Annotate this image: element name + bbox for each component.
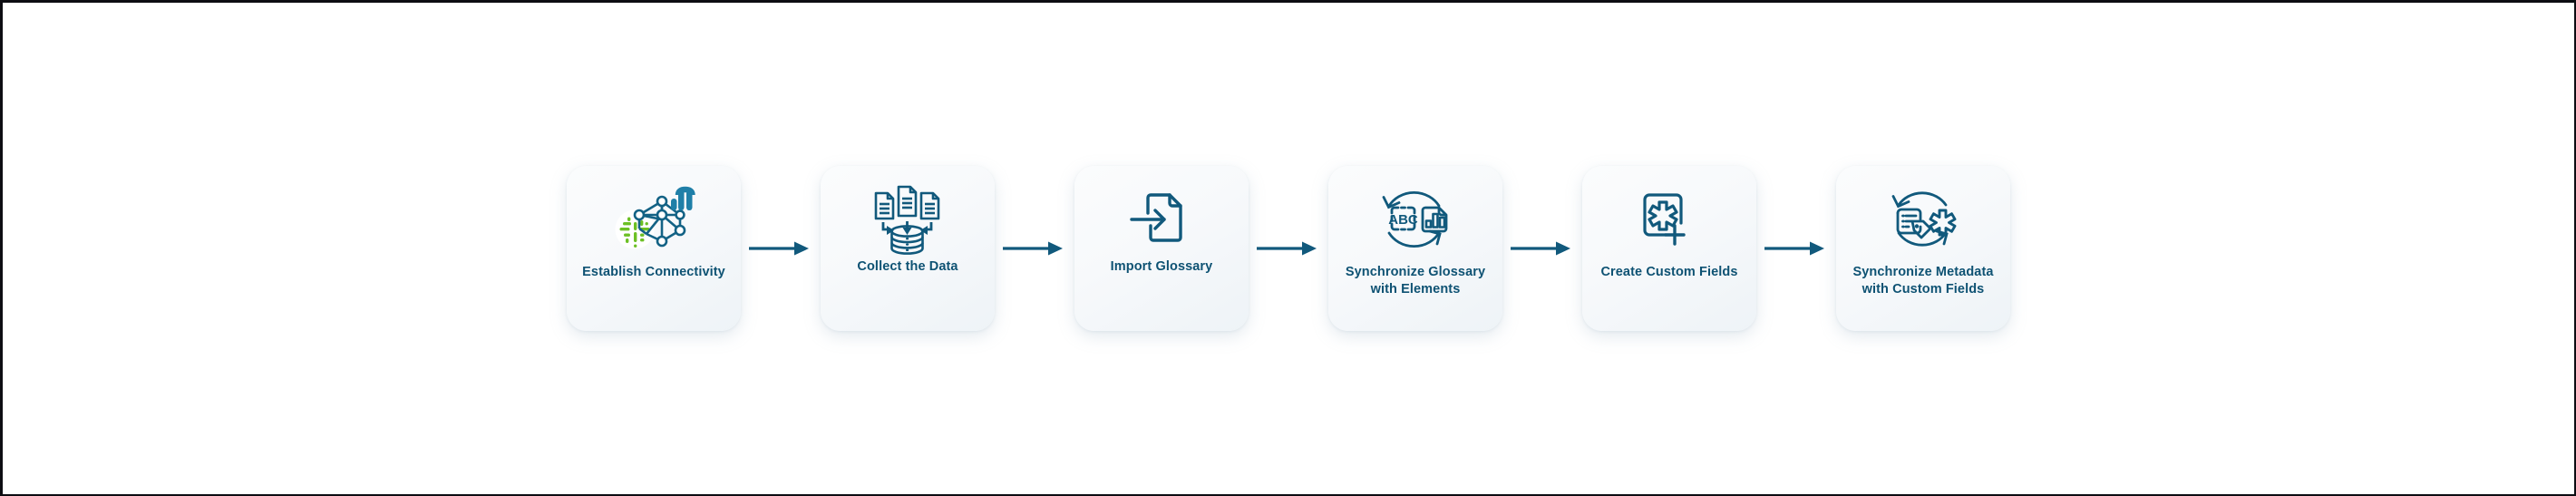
- sync-abc-chart-icon: ABC: [1372, 186, 1459, 253]
- flow-step-label: Collect the Data: [835, 258, 980, 276]
- flow-connector-4: [1502, 230, 1582, 267]
- plus-icon: [1666, 226, 1684, 244]
- diagram-canvas: Establish Connectivity: [0, 0, 2576, 496]
- flow-connector-1: [741, 230, 821, 267]
- flow-step-import-glossary[interactable]: Import Glossary: [1074, 166, 1249, 331]
- process-flow: Establish Connectivity: [3, 3, 2574, 494]
- add-custom-field-icon: [1626, 186, 1713, 253]
- flow-step-synchronize-glossary-with-elements[interactable]: ABC Synchronize Glossary with Elements: [1328, 166, 1502, 331]
- sync-arc-top: [1893, 193, 1946, 207]
- arrow-right-icon: [1511, 238, 1574, 258]
- documents-to-database-icon: [864, 186, 951, 253]
- asterisk-shape: [1649, 202, 1677, 229]
- database-dots: [906, 238, 909, 251]
- document-right: [921, 193, 938, 219]
- document-left: [876, 193, 893, 219]
- flow-step-label: Create Custom Fields: [1597, 264, 1742, 281]
- arrow-right-icon: [1257, 238, 1320, 258]
- network-graph-icon: [610, 186, 697, 253]
- flow-step-label: Synchronize Glossary with Elements: [1343, 264, 1488, 297]
- sync-arc-top: [1384, 192, 1439, 207]
- asterisk-shape: [1930, 210, 1955, 235]
- sync-arc-bottom: [1389, 231, 1440, 247]
- sync-metadata-fields-icon: [1880, 186, 1967, 253]
- flow-step-establish-connectivity[interactable]: Establish Connectivity: [567, 166, 741, 331]
- flow-connector-3: [1249, 230, 1328, 267]
- import-document-icon: [1118, 186, 1205, 253]
- flow-step-create-custom-fields[interactable]: Create Custom Fields: [1582, 166, 1756, 331]
- blue-bars-mark: [671, 190, 693, 210]
- flow-step-label: Import Glossary: [1089, 258, 1234, 276]
- flow-step-collect-the-data[interactable]: Collect the Data: [821, 166, 995, 331]
- arrow-right-icon: [1764, 238, 1828, 258]
- flow-step-label: Establish Connectivity: [581, 264, 726, 281]
- flow-step-label: Synchronize Metadata with Custom Fields: [1851, 264, 1996, 297]
- abc-text: ABC: [1388, 212, 1418, 228]
- flow-connector-2: [995, 230, 1074, 267]
- arrow-right-icon: [749, 238, 812, 258]
- document-center: [899, 187, 916, 216]
- flow-connector-5: [1756, 230, 1836, 267]
- flow-step-synchronize-metadata-with-custom-fields[interactable]: Synchronize Metadata with Custom Fields: [1836, 166, 2010, 331]
- arrow-right-icon: [1003, 238, 1066, 258]
